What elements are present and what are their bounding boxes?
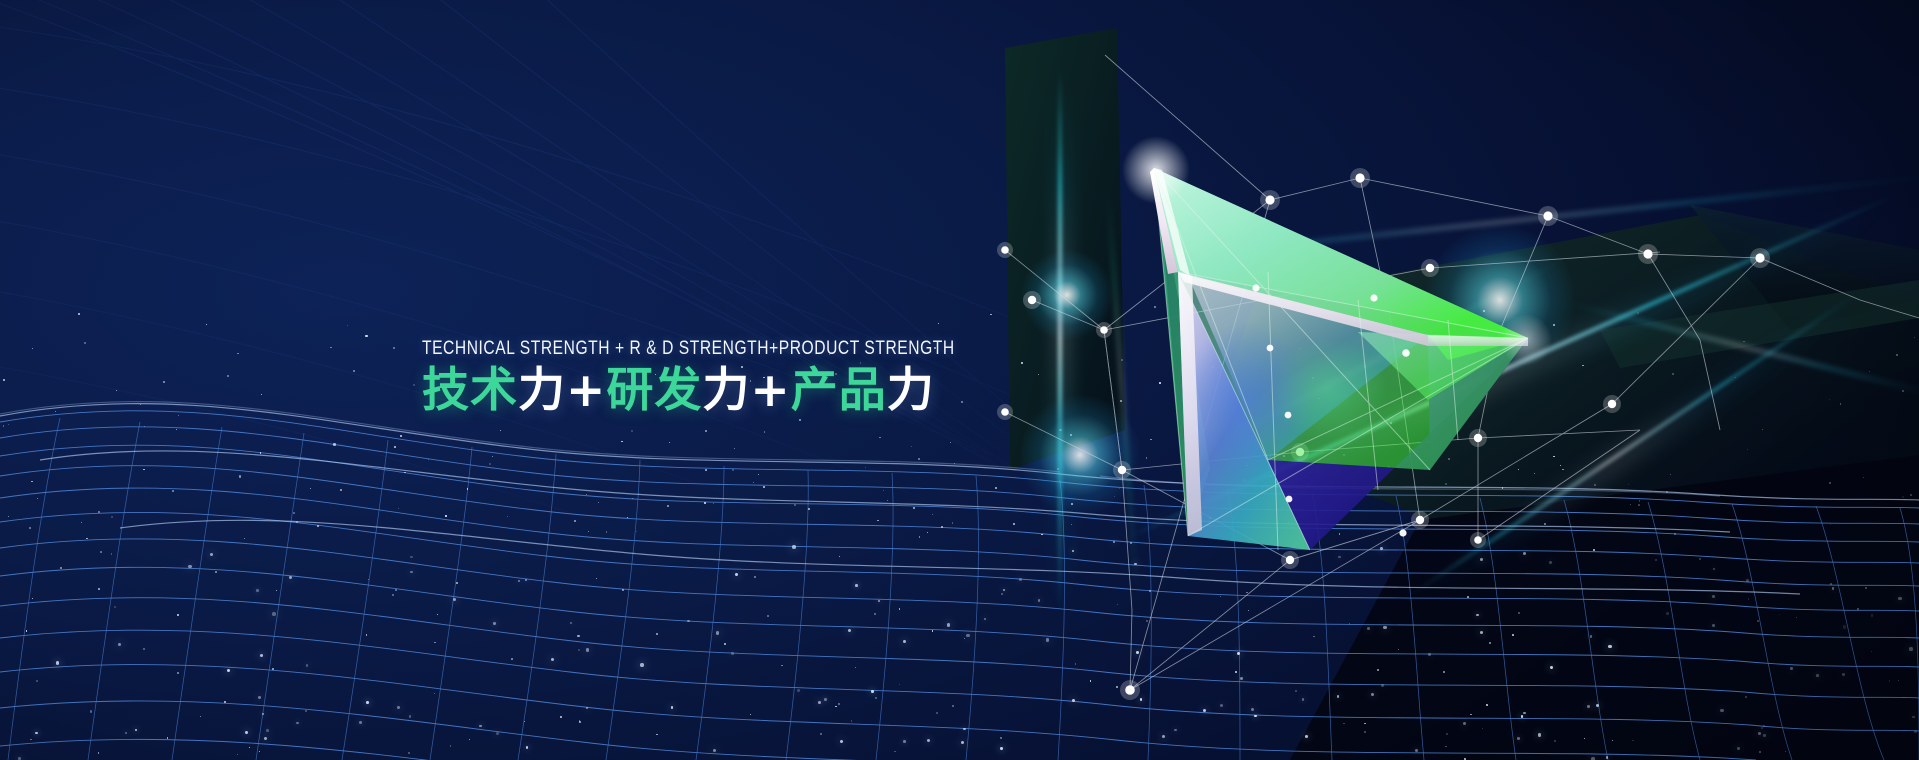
headline-segment: + [566, 363, 606, 418]
particle [260, 452, 262, 454]
particle [409, 715, 412, 718]
particle [560, 716, 562, 718]
particle [1638, 504, 1640, 506]
particle [340, 489, 342, 491]
particle [1596, 704, 1599, 707]
particle [177, 614, 179, 616]
particle [1059, 429, 1061, 431]
particle [1843, 625, 1846, 628]
particle [911, 446, 912, 447]
particle [398, 508, 399, 509]
particle [296, 521, 298, 523]
particle [734, 448, 736, 450]
particle [1587, 705, 1590, 708]
particle [1889, 680, 1891, 682]
particle [526, 746, 529, 749]
particle [579, 720, 581, 722]
particle [177, 672, 179, 674]
particle [90, 710, 92, 712]
particle [353, 370, 355, 372]
particle [26, 630, 28, 632]
particle [840, 740, 844, 744]
light-streak [1560, 300, 1919, 399]
particle [81, 522, 82, 523]
particle [838, 703, 840, 705]
particle [289, 576, 292, 579]
particle [1896, 354, 1898, 356]
particle [1367, 627, 1370, 630]
particle [1337, 695, 1340, 698]
particle [1670, 474, 1671, 475]
particle [848, 629, 851, 632]
particle [1251, 708, 1254, 711]
particle [3, 379, 5, 381]
particle [496, 732, 499, 735]
particle [3, 425, 4, 426]
particle [1747, 449, 1748, 450]
particle [753, 482, 755, 484]
headline-segment: 力 [702, 363, 750, 418]
particle [669, 442, 671, 444]
particle [1041, 534, 1043, 536]
particle [919, 536, 921, 538]
particle [167, 737, 168, 738]
particle [1383, 626, 1386, 629]
particle [413, 384, 415, 386]
particle [293, 512, 295, 514]
particle [98, 588, 100, 590]
particle [1857, 608, 1859, 610]
particle [636, 531, 637, 532]
particle [1480, 631, 1483, 634]
particle [36, 680, 38, 682]
particle [656, 734, 658, 736]
particle [1713, 568, 1716, 571]
particle [450, 745, 451, 746]
particle [936, 712, 938, 714]
particle [35, 732, 38, 735]
particle [586, 648, 590, 652]
particle [111, 553, 113, 555]
particle [1136, 651, 1139, 654]
particle [1758, 732, 1761, 735]
particle [1796, 617, 1797, 618]
particle [820, 733, 822, 735]
particle [244, 538, 245, 539]
particle [176, 429, 177, 430]
particle [598, 502, 600, 504]
particle [1902, 496, 1904, 498]
particle [1590, 635, 1593, 638]
particle [713, 749, 717, 753]
particle [56, 661, 59, 664]
particle [60, 567, 62, 569]
particle [818, 701, 821, 704]
particle [1763, 734, 1766, 737]
particle [400, 435, 402, 437]
particle [8, 424, 9, 425]
particle [1538, 733, 1541, 736]
particle [735, 573, 739, 577]
particle [622, 589, 624, 591]
particle [984, 618, 987, 621]
particle [918, 458, 920, 460]
particle [887, 500, 889, 502]
particle [262, 713, 265, 716]
particle [32, 598, 33, 599]
particle [1146, 620, 1148, 622]
particle [135, 729, 138, 732]
particle [493, 622, 496, 625]
particle [797, 689, 800, 692]
particle [518, 580, 521, 583]
headline-segment: 技术 [422, 363, 518, 418]
particle [716, 631, 720, 635]
particle [1832, 587, 1835, 590]
particle [1174, 729, 1177, 732]
particle [1632, 740, 1634, 742]
particle [1237, 652, 1240, 655]
particle [1240, 677, 1244, 681]
particle [1699, 558, 1700, 559]
particle [347, 325, 348, 326]
particle [1075, 663, 1077, 665]
particle [264, 737, 267, 740]
page-title: 技术力+研发力+产品力 [422, 366, 1122, 417]
particle [1114, 496, 1115, 497]
particle [758, 474, 760, 476]
particle [1019, 578, 1022, 581]
particle [1630, 504, 1631, 505]
particle [1000, 747, 1003, 750]
particle [245, 731, 248, 734]
particle [8, 516, 10, 518]
particle [1637, 312, 1639, 314]
particle [404, 472, 406, 474]
particle [1203, 709, 1206, 712]
particle [1871, 651, 1872, 652]
particle [763, 486, 765, 488]
particle [86, 538, 88, 540]
particle [913, 507, 915, 509]
particle [1898, 680, 1899, 681]
particle [1220, 704, 1223, 707]
particle [586, 494, 587, 495]
particle [1072, 550, 1075, 553]
particle [1415, 749, 1418, 752]
particle [224, 701, 226, 703]
particle [500, 430, 501, 431]
particle [1381, 684, 1385, 688]
particle [903, 640, 906, 643]
particle [1759, 751, 1761, 753]
particle [437, 614, 439, 616]
particle [524, 721, 525, 722]
particle [551, 658, 555, 662]
particle [1748, 598, 1749, 599]
particle [1608, 645, 1611, 648]
particle [163, 381, 165, 383]
particle [237, 353, 239, 355]
particle [606, 531, 608, 533]
particle [954, 463, 956, 465]
particle [32, 348, 33, 349]
particle [947, 623, 950, 626]
particle [1489, 642, 1491, 644]
particle [1863, 477, 1865, 479]
particle [1398, 649, 1399, 650]
particle [1869, 371, 1870, 372]
particle [704, 502, 705, 503]
particle [588, 531, 590, 533]
particle [276, 590, 277, 591]
particle [754, 576, 756, 578]
particle [1371, 693, 1374, 696]
particle [1666, 491, 1668, 493]
particle [764, 431, 766, 433]
particle [1254, 715, 1256, 717]
particle [667, 505, 669, 507]
particle [1517, 737, 1520, 740]
particle [100, 551, 102, 553]
particle [705, 430, 707, 432]
particle [1909, 647, 1913, 651]
particle [239, 475, 241, 477]
particle [877, 520, 879, 522]
particle [927, 532, 928, 533]
particle [266, 729, 269, 732]
particle [952, 705, 954, 707]
particle [1364, 723, 1366, 725]
particle [1779, 614, 1781, 616]
particle [1446, 733, 1448, 735]
particle [1763, 725, 1765, 727]
particle [1343, 723, 1345, 725]
particle [950, 442, 951, 443]
particle [995, 487, 997, 489]
particle [1655, 559, 1657, 561]
particle [118, 643, 121, 646]
particle [724, 643, 726, 645]
particle [1829, 482, 1831, 484]
particle [1830, 524, 1832, 526]
particle [1628, 484, 1629, 485]
particle [1302, 698, 1305, 701]
particle [964, 638, 966, 640]
particle [256, 589, 259, 592]
particle [687, 620, 689, 622]
particle [525, 579, 528, 582]
particle [1001, 593, 1003, 595]
particle [621, 441, 622, 442]
particle [1003, 589, 1006, 592]
particle [1672, 373, 1674, 375]
particle [1712, 624, 1715, 627]
particle [249, 747, 250, 748]
particle [903, 740, 906, 743]
particle [55, 411, 56, 412]
particle [410, 556, 412, 558]
particle [577, 635, 579, 637]
particle [1512, 634, 1514, 636]
particle [941, 526, 943, 528]
particle [1871, 614, 1874, 617]
particle [1116, 686, 1118, 688]
particle [1349, 623, 1350, 624]
particle [932, 514, 933, 515]
particle [1757, 620, 1759, 622]
particle [963, 728, 966, 731]
particle [394, 446, 396, 448]
particle [1113, 541, 1116, 544]
particle [1305, 735, 1308, 738]
particle [511, 658, 513, 660]
particle [188, 565, 192, 569]
particle [1720, 709, 1723, 712]
particle [453, 598, 456, 601]
particle [37, 498, 38, 499]
particle [392, 594, 394, 596]
particle [1712, 595, 1715, 598]
particle [306, 664, 309, 667]
particle [445, 515, 446, 516]
particle [938, 323, 939, 324]
particle [640, 663, 644, 667]
particle [808, 508, 810, 510]
particle [1606, 756, 1609, 759]
particle [1119, 488, 1121, 490]
particle [227, 669, 230, 672]
particle [178, 415, 179, 416]
particle [1829, 399, 1830, 400]
particle [631, 430, 633, 432]
hero-banner: TECHNICAL STRENGTH + R & D STRENGTH+PROD… [0, 0, 1919, 760]
particle [1470, 714, 1472, 716]
particle [172, 490, 174, 492]
particle [731, 652, 734, 655]
headline-segment: + [750, 363, 790, 418]
particle [1071, 503, 1073, 505]
particle [140, 404, 141, 405]
particle [883, 490, 884, 491]
particle [966, 634, 970, 638]
particle [310, 488, 311, 489]
particle [1743, 341, 1744, 342]
particle [1550, 666, 1553, 669]
particle [1162, 735, 1165, 738]
particle [206, 324, 207, 325]
particle [1762, 429, 1763, 430]
particle [1612, 740, 1613, 741]
particle [479, 725, 481, 727]
particle [1523, 712, 1525, 714]
particle [990, 314, 992, 316]
particle [894, 751, 896, 753]
particle [1840, 403, 1841, 404]
particle [879, 437, 881, 439]
particle [1445, 746, 1447, 748]
particle [1761, 727, 1763, 729]
particle [1639, 500, 1641, 502]
particle [1377, 669, 1379, 671]
particle [835, 706, 837, 708]
particle [1865, 587, 1867, 589]
particle [792, 545, 796, 549]
particle [824, 698, 827, 701]
particle [98, 752, 99, 753]
particle [1902, 390, 1904, 392]
particle [330, 347, 332, 349]
particle [865, 467, 866, 468]
particle [855, 667, 856, 668]
particle [489, 463, 491, 465]
particle [428, 459, 429, 460]
particle [305, 710, 307, 712]
headline-segment: 力 [518, 363, 566, 418]
particle [434, 642, 436, 644]
particle [111, 516, 113, 518]
particle [899, 608, 900, 609]
particle [1735, 377, 1737, 379]
particle [1842, 673, 1846, 677]
particle [961, 741, 964, 744]
particle [1912, 716, 1915, 719]
particle [1463, 722, 1466, 725]
particle [1584, 738, 1586, 740]
particle [260, 654, 263, 657]
particle [366, 634, 368, 636]
particle [434, 693, 435, 694]
particle [875, 697, 877, 699]
particle [713, 503, 714, 504]
particle [1013, 523, 1015, 525]
particle [1140, 698, 1142, 700]
particle [1745, 696, 1747, 698]
particle [125, 732, 128, 735]
particle [1914, 730, 1917, 733]
particle [878, 600, 880, 602]
particle [794, 504, 796, 506]
prism-arrow-logo [1128, 150, 1598, 620]
particle [78, 313, 80, 315]
particle [851, 720, 853, 722]
lens-flare [1022, 250, 1112, 340]
particle [1666, 612, 1669, 615]
particle [1482, 728, 1483, 729]
particle [705, 469, 707, 471]
particle [732, 469, 734, 471]
particle [1816, 674, 1819, 677]
particle [1746, 579, 1749, 582]
particle [1295, 690, 1297, 692]
particle [1071, 524, 1072, 525]
particle [114, 606, 116, 608]
particle [1830, 583, 1832, 585]
particle [507, 516, 508, 517]
particle [1674, 533, 1676, 535]
particle [1554, 740, 1556, 742]
particle [1235, 671, 1237, 673]
particle [750, 714, 751, 715]
particle [1046, 638, 1050, 642]
particle [627, 517, 629, 519]
particle [395, 589, 397, 591]
particle [333, 443, 335, 445]
particle [1038, 599, 1041, 602]
particle [30, 739, 31, 740]
particle [1910, 494, 1912, 496]
particle [1090, 680, 1091, 681]
